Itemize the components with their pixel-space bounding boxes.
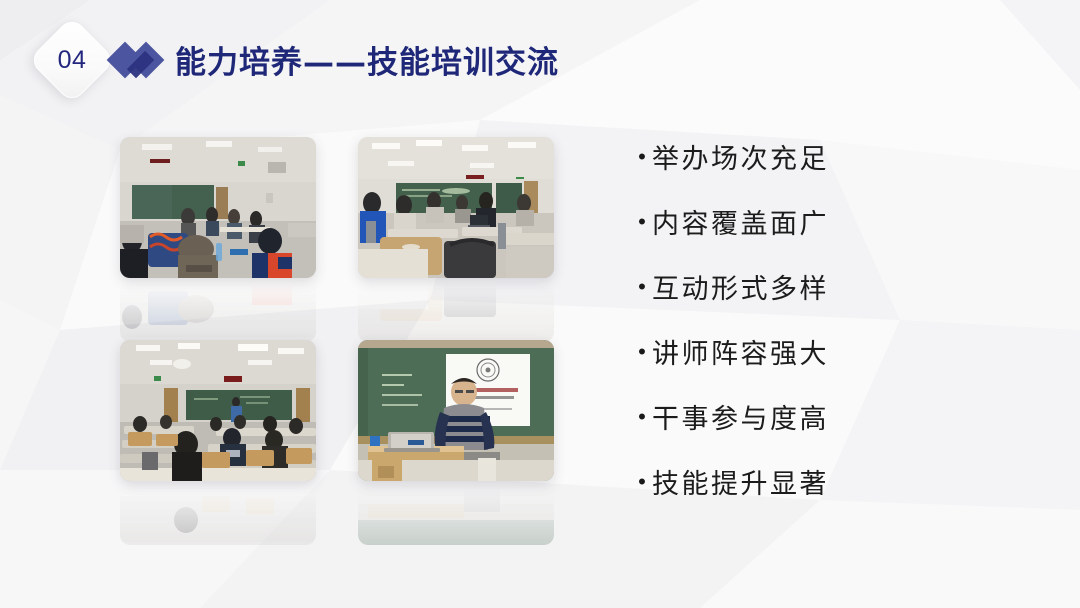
bullet-marker-icon: •	[632, 276, 652, 298]
list-item-label: 内容覆盖面广	[652, 202, 829, 241]
gallery-item[interactable]	[120, 137, 316, 278]
bullet-marker-icon: •	[632, 406, 652, 428]
gallery-item[interactable]	[358, 340, 554, 481]
bullet-marker-icon: •	[632, 146, 652, 168]
bullet-marker-icon: •	[632, 471, 652, 493]
photo-speaker-podium-banner[interactable]	[358, 340, 554, 481]
gallery-item[interactable]	[120, 340, 316, 481]
list-item: • 讲师阵容强大	[632, 319, 1052, 384]
list-item: • 干事参与度高	[632, 384, 1052, 449]
list-item: • 技能提升显著	[632, 449, 1052, 514]
photo-reflection	[358, 280, 554, 342]
bullet-marker-icon: •	[632, 211, 652, 233]
photo-reflection	[120, 280, 316, 342]
gallery-item[interactable]	[358, 137, 554, 278]
list-item-label: 干事参与度高	[652, 397, 829, 436]
double-diamond-icon	[112, 43, 167, 79]
slide-root: 04 能力培养——技能培训交流	[0, 0, 1080, 608]
photo-classroom-wide-lecture[interactable]	[120, 340, 316, 481]
list-item-label: 互动形式多样	[652, 267, 829, 306]
photo-classroom-laptops[interactable]	[358, 137, 554, 278]
list-item-label: 举办场次充足	[652, 137, 829, 176]
photo-classroom-students-seated[interactable]	[120, 137, 316, 278]
list-item: • 互动形式多样	[632, 254, 1052, 319]
page-title: 能力培养——技能培训交流	[175, 37, 559, 82]
list-item-label: 技能提升显著	[652, 462, 829, 501]
list-item: • 举办场次充足	[632, 124, 1052, 189]
bullet-list: • 举办场次充足 • 内容覆盖面广 • 互动形式多样 • 讲师阵容强大 • 干事…	[632, 124, 1052, 514]
list-item-label: 讲师阵容强大	[652, 332, 829, 371]
list-item: • 内容覆盖面广	[632, 189, 1052, 254]
bullet-marker-icon: •	[632, 341, 652, 363]
section-number-label: 04	[41, 29, 103, 91]
photo-gallery	[120, 137, 554, 497]
photo-reflection	[120, 483, 316, 545]
slide-header: 04 能力培养——技能培训交流	[0, 0, 1080, 118]
photo-reflection	[358, 483, 554, 545]
